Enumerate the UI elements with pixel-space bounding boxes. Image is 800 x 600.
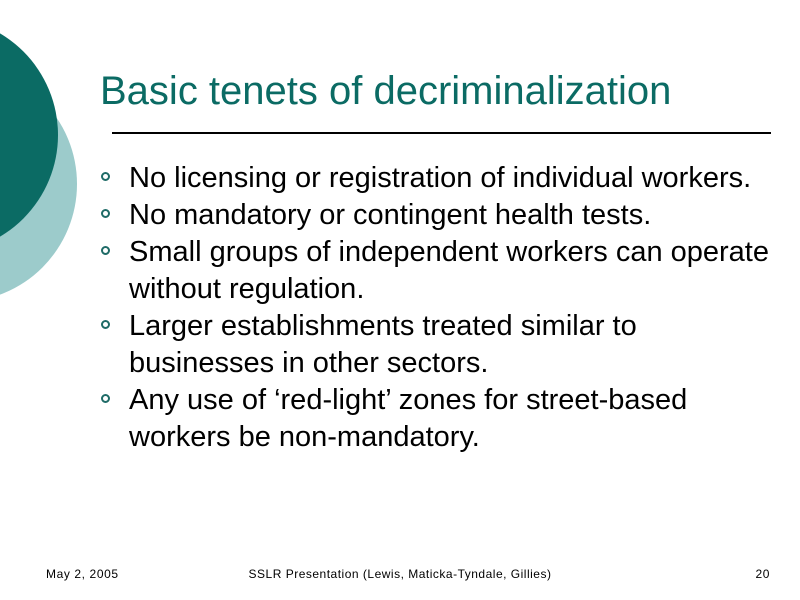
list-item: No mandatory or contingent health tests. bbox=[100, 197, 780, 234]
bullet-list: No licensing or registration of individu… bbox=[100, 160, 780, 456]
open-circle-bullet-icon bbox=[101, 320, 110, 329]
title-underline-rule bbox=[112, 132, 771, 134]
title-block: Basic tenets of decriminalization bbox=[100, 68, 776, 114]
open-circle-bullet-icon bbox=[101, 172, 110, 181]
light-teal-circle-decoration bbox=[0, 66, 77, 302]
list-item-label: Small groups of independent workers can … bbox=[129, 234, 780, 308]
list-item: Small groups of independent workers can … bbox=[100, 234, 780, 308]
footer-presentation-title: SSLR Presentation (Lewis, Maticka-Tyndal… bbox=[0, 567, 800, 581]
list-item-label: No licensing or registration of individu… bbox=[129, 160, 780, 197]
dark-teal-circle-decoration bbox=[0, 17, 58, 253]
list-item-label: Any use of ‘red-light’ zones for street-… bbox=[129, 382, 780, 456]
list-item: Any use of ‘red-light’ zones for street-… bbox=[100, 382, 780, 456]
open-circle-bullet-icon bbox=[101, 246, 110, 255]
footer-page-number: 20 bbox=[755, 567, 770, 581]
open-circle-bullet-icon bbox=[101, 394, 110, 403]
list-item: Larger establishments treated similar to… bbox=[100, 308, 780, 382]
list-item-label: Larger establishments treated similar to… bbox=[129, 308, 780, 382]
open-circle-bullet-icon bbox=[101, 209, 110, 218]
slide-footer: May 2, 2005 SSLR Presentation (Lewis, Ma… bbox=[0, 564, 800, 586]
slide-title: Basic tenets of decriminalization bbox=[100, 68, 776, 114]
slide-canvas: Basic tenets of decriminalization No lic… bbox=[0, 0, 800, 600]
list-item: No licensing or registration of individu… bbox=[100, 160, 780, 197]
list-item-label: No mandatory or contingent health tests. bbox=[129, 197, 780, 234]
